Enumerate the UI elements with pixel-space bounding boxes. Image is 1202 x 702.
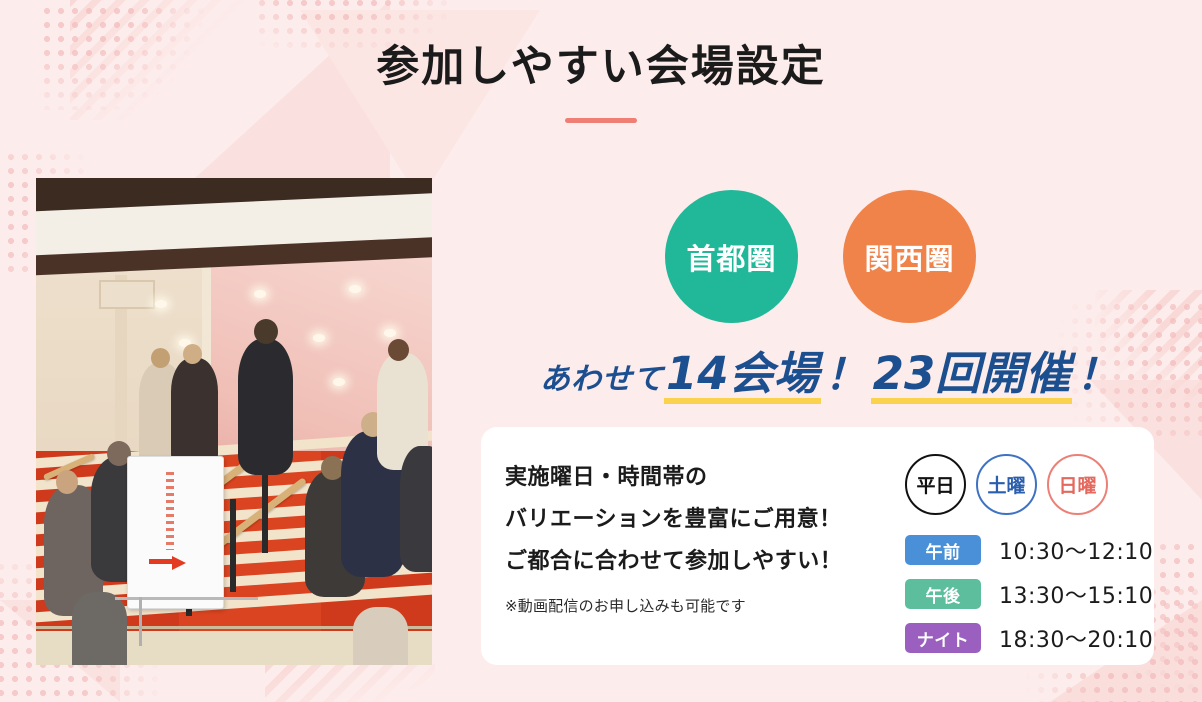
slot-morning-time: 10:30〜12:10 bbox=[999, 534, 1153, 566]
slot-afternoon-badge: 午後 bbox=[905, 579, 981, 609]
card-line-3: ご都合に合わせて参加しやすい！ bbox=[505, 541, 905, 583]
day-weekday-label: 平日 bbox=[916, 471, 954, 498]
card-note: ※動画配信のお申し込みも可能です bbox=[505, 595, 905, 616]
slot-night: ナイト 18:30〜20:10 bbox=[905, 620, 1153, 656]
slot-afternoon-time: 13:30〜15:10 bbox=[999, 578, 1153, 610]
headline-venue-count: 14会場 bbox=[664, 337, 821, 404]
slot-night-time: 18:30〜20:10 bbox=[999, 622, 1153, 654]
headline-bang-2: ！ bbox=[1072, 341, 1122, 402]
headline-bang-1: ！ bbox=[821, 341, 871, 402]
day-weekday: 平日 bbox=[905, 454, 966, 515]
background-stripes-bottom bbox=[265, 660, 435, 702]
venue-staircase-photo bbox=[36, 178, 432, 665]
day-sunday-label: 日曜 bbox=[1058, 471, 1096, 498]
schedule-card-text: 実施曜日・時間帯の バリエーションを豊富にご用意！ ご都合に合わせて参加しやすい… bbox=[505, 457, 905, 616]
slot-night-badge: ナイト bbox=[905, 623, 981, 653]
slot-morning-badge: 午前 bbox=[905, 535, 981, 565]
region-kansai-label: 関西圏 bbox=[864, 236, 954, 278]
day-chip-group: 平日 土曜 日曜 bbox=[905, 454, 1108, 515]
slide-root: 参加しやすい会場設定 bbox=[0, 0, 1202, 702]
region-shutoken: 首都圏 bbox=[665, 190, 798, 323]
title-underline-rule bbox=[565, 118, 637, 123]
headline-lead: あわせて bbox=[540, 354, 664, 398]
slot-morning-label: 午前 bbox=[926, 538, 961, 563]
card-line-2: バリエーションを豊富にご用意！ bbox=[505, 499, 905, 541]
headline-session-count: 23回開催 bbox=[871, 337, 1073, 404]
time-slot-list: 午前 10:30〜12:10 午後 13:30〜15:10 ナイト 18:30〜… bbox=[905, 532, 1153, 664]
page-title: 参加しやすい会場設定 bbox=[0, 32, 1202, 94]
slot-afternoon-label: 午後 bbox=[926, 582, 961, 607]
headline: あわせて 14会場 ！ 23回開催 ！ bbox=[540, 337, 1122, 404]
day-sunday: 日曜 bbox=[1047, 454, 1108, 515]
slot-night-label: ナイト bbox=[917, 626, 970, 651]
region-shutoken-label: 首都圏 bbox=[686, 236, 776, 278]
schedule-card: 実施曜日・時間帯の バリエーションを豊富にご用意！ ご都合に合わせて参加しやすい… bbox=[481, 427, 1154, 665]
slot-morning: 午前 10:30〜12:10 bbox=[905, 532, 1153, 568]
region-kansai: 関西圏 bbox=[843, 190, 976, 323]
day-saturday: 土曜 bbox=[976, 454, 1037, 515]
day-saturday-label: 土曜 bbox=[987, 471, 1025, 498]
card-line-1: 実施曜日・時間帯の bbox=[505, 457, 905, 499]
slot-afternoon: 午後 13:30〜15:10 bbox=[905, 576, 1153, 612]
